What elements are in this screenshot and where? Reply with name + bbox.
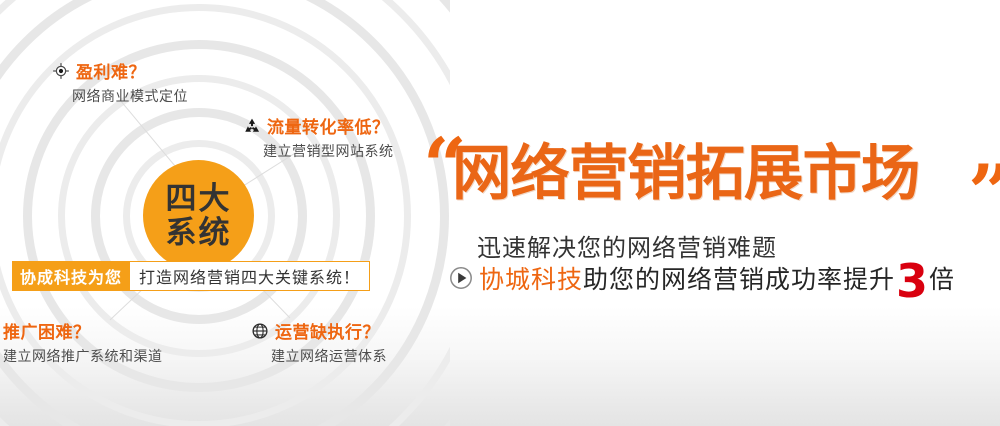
core-line-1: 四大 [166,182,232,216]
problem-item-subtitle: 建立营销型网站系统 [263,141,394,161]
target-icon [52,62,70,80]
tagline-brand-label: 协成科技为您 [12,261,130,291]
problem-item-header: 流量转化率低？ [243,113,394,138]
core-line-2: 系统 [166,216,232,250]
problem-item-subtitle: 网络商业模式定位 [72,86,188,106]
problem-item-title: 运营缺执行？ [275,318,380,343]
problem-item-promotion[interactable]: 推广困难？ 建立网络推广系统和渠道 [3,318,163,366]
problem-item-conversion[interactable]: 流量转化率低？ 建立营销型网站系统 [243,113,394,161]
center-circle-four-systems: 四大 系统 [143,160,254,271]
headline-panel: “ 网络营销拓展市场 ” 迅速解决您的网络营销难题 协城科技 助您的网络营销成功… [415,0,1000,426]
tagline-message-label: 打造网络营销四大关键系统！ [130,261,370,291]
benefit-text: 助您的网络营销成功率提升 [583,260,895,296]
closing-quote-mark: ” [968,155,1000,231]
globe-icon [251,322,269,340]
tagline-strip: 协成科技为您 打造网络营销四大关键系统！ [12,261,370,291]
problem-item-header: 运营缺执行？ [251,318,387,343]
problem-item-header: 推广困难？ [3,318,163,343]
problem-item-profit[interactable]: 盈利难？ 网络商业模式定位 [52,58,188,106]
main-headline: 网络营销拓展市场 [452,143,919,205]
multiplier-unit: 倍 [929,260,954,296]
marketing-banner: 四大 系统 协成科技为您 打造网络营销四大关键系统！ 盈利难？ 网络商业模式定位 [0,0,1000,426]
problem-item-title: 流量转化率低？ [267,113,390,138]
company-name: 协城科技 [479,260,583,296]
play-circle-icon[interactable] [449,266,473,290]
problem-item-title: 盈利难？ [76,58,146,83]
subheadline-line-2: 协城科技 助您的网络营销成功率提升 3 倍 [449,258,954,298]
problem-item-title: 推广困难？ [3,318,91,343]
multiplier-number: 3 [896,261,928,301]
problem-item-operations[interactable]: 运营缺执行？ 建立网络运营体系 [251,318,387,366]
problem-item-subtitle: 建立网络推广系统和渠道 [3,346,163,366]
problem-item-subtitle: 建立网络运营体系 [271,346,387,366]
problem-item-header: 盈利难？ [52,58,188,83]
recycle-icon [243,117,261,135]
